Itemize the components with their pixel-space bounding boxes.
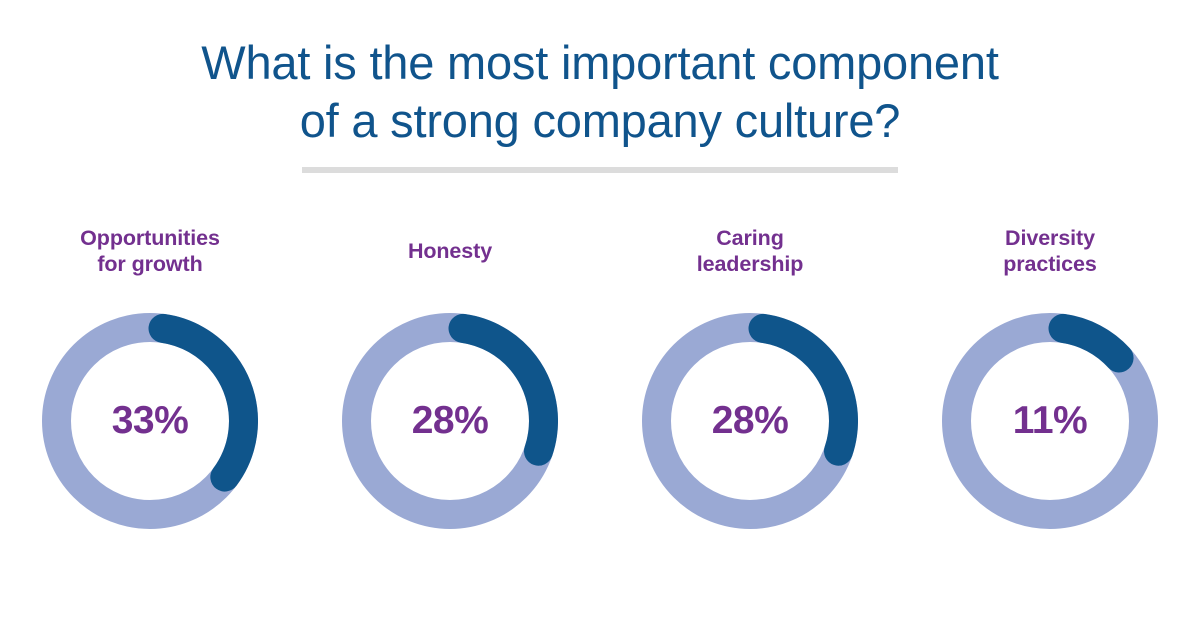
donut-chart-row: Opportunities for growth 33% Honesty 28%… [0, 222, 1200, 529]
donut-gauge-icon [642, 313, 858, 529]
donut-figure: 28% [342, 313, 558, 529]
donut-cell-honesty: Honesty 28% [342, 222, 558, 529]
page-title: What is the most important component of … [0, 34, 1200, 150]
donut-figure: 33% [42, 313, 258, 529]
donut-figure: 28% [642, 313, 858, 529]
title-divider [302, 167, 898, 173]
infographic-root: What is the most important component of … [0, 0, 1200, 628]
donut-label: Diversity practices [1003, 222, 1097, 280]
donut-cell-caring-leadership: Caring leadership 28% [642, 222, 858, 529]
page-title-line-2: of a strong company culture? [0, 92, 1200, 150]
title-divider-wrap [0, 167, 1200, 173]
donut-label: Caring leadership [697, 222, 804, 280]
donut-gauge-icon [942, 313, 1158, 529]
header: What is the most important component of … [0, 0, 1200, 173]
donut-label: Honesty [408, 222, 492, 280]
donut-cell-opportunities-for-growth: Opportunities for growth 33% [42, 222, 258, 529]
donut-figure: 11% [942, 313, 1158, 529]
donut-gauge-icon [42, 313, 258, 529]
donut-cell-diversity-practices: Diversity practices 11% [942, 222, 1158, 529]
page-title-line-1: What is the most important component [0, 34, 1200, 92]
donut-gauge-icon [342, 313, 558, 529]
donut-label: Opportunities for growth [80, 222, 220, 280]
